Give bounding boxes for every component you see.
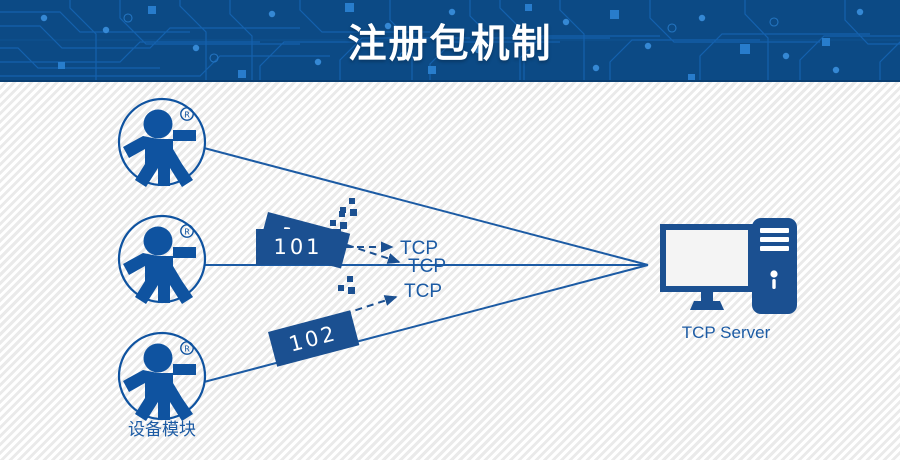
devices-caption: 设备模块 bbox=[128, 420, 196, 440]
person-module-icon bbox=[119, 333, 205, 421]
diagram-canvas: R bbox=[0, 82, 900, 460]
registered-trademark-icon bbox=[181, 342, 193, 354]
device-node-2[interactable] bbox=[119, 216, 205, 304]
tcp-label-3: TCP bbox=[404, 281, 442, 302]
server-vents-icon bbox=[760, 228, 789, 251]
server-node[interactable]: TCP Server bbox=[660, 218, 797, 342]
packet-101[interactable]: 101 bbox=[256, 229, 341, 265]
monitor-screen bbox=[666, 230, 748, 286]
registered-trademark-icon bbox=[181, 225, 193, 237]
device-node-1[interactable] bbox=[119, 99, 205, 187]
registration-packet-diagram-page: 注册包机制 R bbox=[0, 0, 900, 460]
packet-number: 101 bbox=[273, 235, 322, 259]
person-module-icon bbox=[119, 216, 205, 304]
packet-102[interactable]: 102 bbox=[268, 310, 359, 367]
tcp-label-2: TCP bbox=[400, 238, 438, 259]
packet-101-pixels bbox=[330, 211, 347, 229]
monitor-neck-icon bbox=[701, 292, 713, 301]
tcp-label-1: TCP bbox=[408, 256, 446, 277]
server-label: TCP Server bbox=[682, 323, 771, 342]
monitor-stand-icon bbox=[690, 301, 724, 310]
registered-trademark-icon bbox=[181, 108, 193, 120]
page-title: 注册包机制 bbox=[0, 0, 900, 82]
tcp-arrow-3 bbox=[344, 297, 396, 314]
packet-102-pixels bbox=[338, 276, 355, 294]
device-node-3[interactable] bbox=[119, 333, 205, 421]
header-banner: 注册包机制 bbox=[0, 0, 900, 82]
person-module-icon bbox=[119, 99, 205, 187]
topology-svg: R bbox=[0, 82, 900, 460]
